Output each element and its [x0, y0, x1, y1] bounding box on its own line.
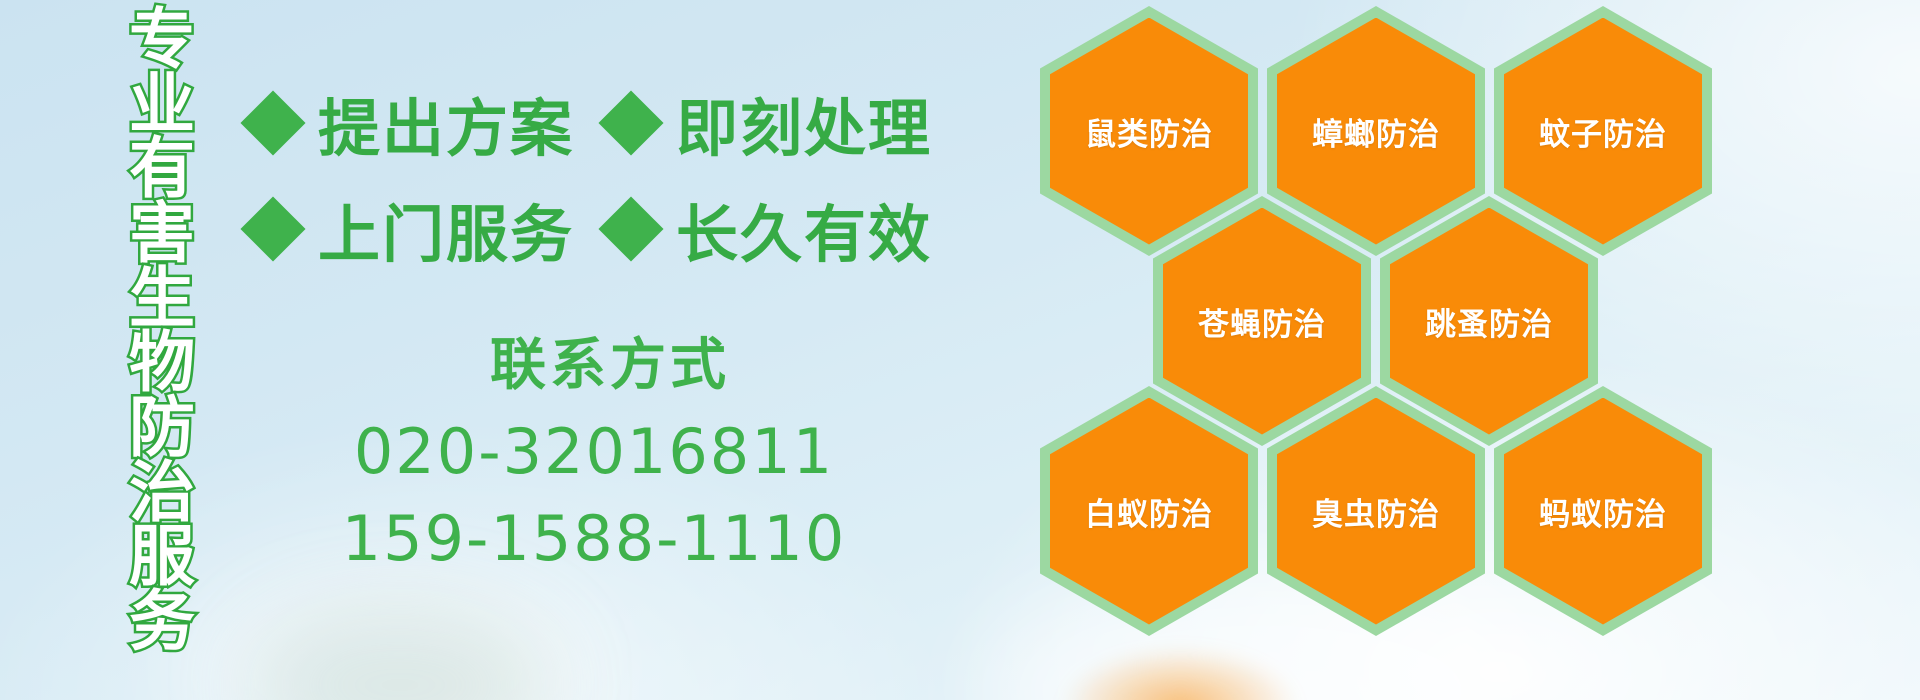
service-label: 苍蝇防治: [1198, 299, 1326, 344]
diamond-icon: [598, 196, 663, 261]
vertical-headline-char: 防: [129, 396, 195, 461]
feature-label: 长久有效: [676, 184, 932, 274]
vertical-headline-char: 服: [129, 525, 195, 590]
feature-label: 即刻处理: [676, 78, 932, 168]
feature-row: 提出方案 即刻处理: [250, 70, 890, 176]
vertical-headline-char: 专: [129, 8, 195, 73]
service-label: 跳蚤防治: [1425, 299, 1553, 344]
vertical-headline-char: 业: [129, 73, 195, 138]
promo-banner: 专 业 有 害 生 物 防 治 服 务 提出方案 即刻处理 上门服务 长久有效 …: [0, 0, 1920, 700]
service-label: 蚊子防治: [1539, 109, 1667, 154]
diamond-icon: [240, 90, 305, 155]
vertical-headline-char: 有: [129, 137, 195, 202]
phone-number-landline[interactable]: 020-32016811: [278, 415, 910, 488]
service-label: 臭虫防治: [1312, 489, 1440, 534]
hex-inner: 蟑螂防治: [1277, 18, 1475, 245]
vertical-headline-char: 务: [129, 590, 195, 655]
diamond-icon: [598, 90, 663, 155]
service-honeycomb: 鼠类防治 蟑螂防治 蚊子防治 苍蝇防治 跳蚤防治 白蚁防治: [1040, 0, 1800, 700]
contact-heading: 联系方式: [310, 320, 910, 401]
feature-label: 上门服务: [318, 184, 574, 274]
hex-inner: 白蚁防治: [1050, 398, 1248, 625]
diamond-icon: [240, 196, 305, 261]
hex-inner: 蚂蚁防治: [1504, 398, 1702, 625]
hex-inner: 臭虫防治: [1277, 398, 1475, 625]
feature-row: 上门服务 长久有效: [250, 176, 890, 282]
hex-inner: 鼠类防治: [1050, 18, 1248, 245]
service-label: 蟑螂防治: [1312, 109, 1440, 154]
hex-inner: 跳蚤防治: [1390, 208, 1588, 435]
service-label: 鼠类防治: [1085, 109, 1213, 154]
hex-inner: 蚊子防治: [1504, 18, 1702, 245]
vertical-headline-char: 害: [129, 202, 195, 267]
vertical-headline: 专 业 有 害 生 物 防 治 服 务: [110, 8, 214, 608]
feature-label: 提出方案: [318, 78, 574, 168]
vertical-headline-char: 生: [129, 267, 195, 332]
vertical-headline-char: 治: [129, 461, 195, 526]
feature-list: 提出方案 即刻处理 上门服务 长久有效: [250, 70, 890, 282]
service-label: 蚂蚁防治: [1539, 489, 1667, 534]
hex-inner: 苍蝇防治: [1163, 208, 1361, 435]
contact-block: 联系方式 020-32016811 159-1588-1110: [250, 320, 910, 575]
vertical-headline-char: 物: [129, 331, 195, 396]
service-label: 白蚁防治: [1085, 489, 1213, 534]
phone-number-mobile[interactable]: 159-1588-1110: [278, 502, 910, 575]
